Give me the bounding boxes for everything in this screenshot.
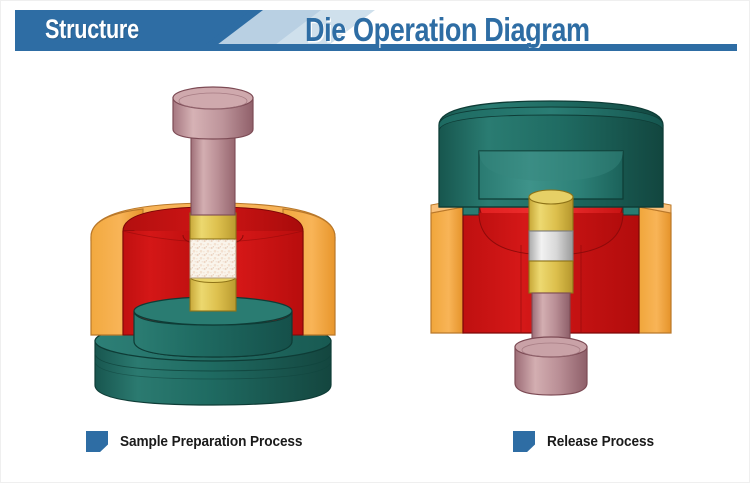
caption-sample-preparation-label: Sample Preparation Process xyxy=(120,434,302,450)
bullet-square-icon xyxy=(86,431,108,452)
plunger-head xyxy=(173,87,253,139)
diagram-stage xyxy=(1,57,750,417)
page-header: Structure Die Operation Diagram xyxy=(15,10,737,48)
header-rule xyxy=(15,48,737,51)
page-root: Structure Die Operation Diagram xyxy=(0,0,750,483)
sample-powder xyxy=(190,238,236,278)
lower-anvil xyxy=(529,261,573,293)
sample-preparation-die-figure xyxy=(63,85,363,415)
page-title: Die Operation Diagram xyxy=(305,8,590,52)
plunger-shaft xyxy=(191,129,235,215)
caption-release-label: Release Process xyxy=(547,434,654,450)
upper-anvil xyxy=(190,213,236,239)
release-die-figure xyxy=(401,95,701,415)
ejector-head xyxy=(515,337,587,395)
bullet-square-icon xyxy=(513,431,535,452)
caption-sample-preparation: Sample Preparation Process xyxy=(86,431,314,452)
header-tag-label: Structure xyxy=(45,10,139,48)
upper-anvil xyxy=(529,190,573,231)
caption-release: Release Process xyxy=(513,431,661,452)
pressed-pellet xyxy=(529,231,573,261)
